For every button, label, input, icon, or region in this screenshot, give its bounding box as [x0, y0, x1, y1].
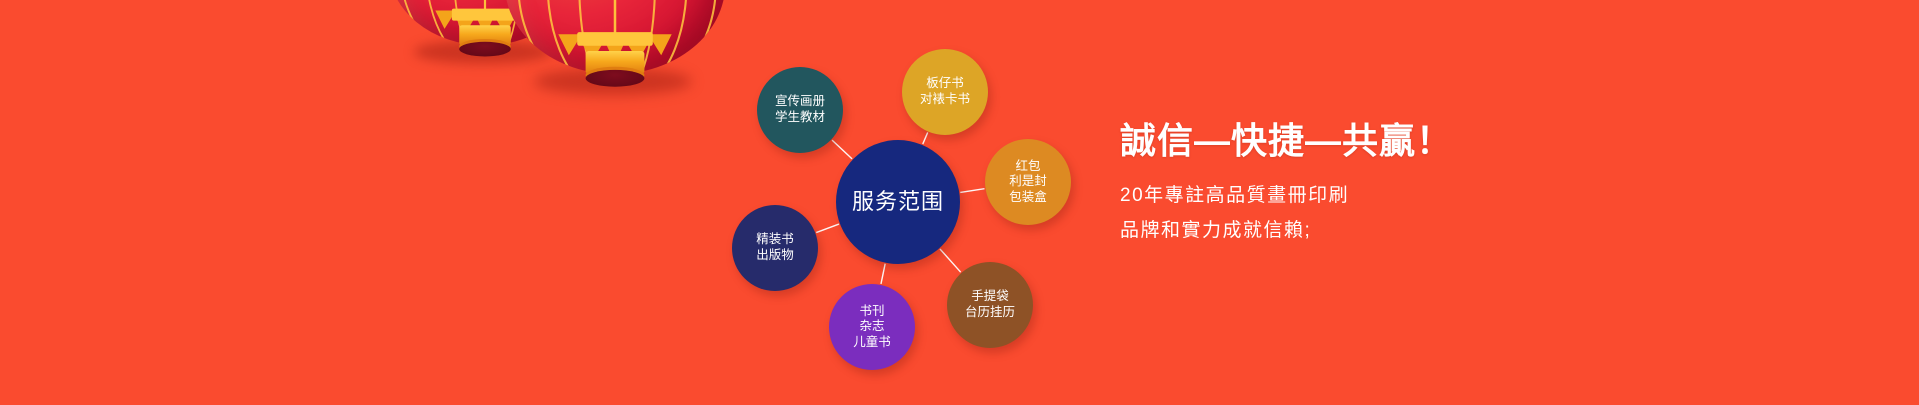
- connector-line: [816, 224, 839, 233]
- bubble-label-line: 学生教材: [775, 110, 825, 126]
- bubble-label-line: 书刊: [859, 304, 884, 320]
- bubble-label-line: 台历挂历: [965, 305, 1015, 321]
- bubble-label-line: 服务范围: [852, 188, 944, 216]
- bubble-center-service-scope[interactable]: 服务范围: [836, 140, 960, 264]
- bubble-handbags-calendars[interactable]: 手提袋台历挂历: [947, 262, 1033, 348]
- bubble-label-line: 儿童书: [853, 335, 891, 351]
- bubble-label-line: 利是封: [1009, 174, 1047, 190]
- slogan-block: 誠信—快捷—共贏！ 20年專註高品質畫冊印刷 品牌和實力成就信賴;: [1120, 112, 1760, 250]
- bubble-promotional-brochures[interactable]: 宣传画册学生教材: [757, 67, 843, 153]
- bubble-label-line: 宣传画册: [775, 94, 825, 110]
- connector-line: [960, 189, 984, 193]
- bubble-magazines[interactable]: 书刊杂志儿童书: [829, 284, 915, 370]
- bubble-board-books[interactable]: 板仔书对裱卡书: [902, 49, 988, 135]
- bubble-label-line: 红包: [1015, 159, 1040, 175]
- promo-banner: 服务范围宣传画册学生教材板仔书对裱卡书红包利是封包装盒精装书出版物书刊杂志儿童书…: [0, 0, 1919, 405]
- connector-line: [923, 132, 928, 144]
- bubble-hardcover-books[interactable]: 精装书出版物: [732, 205, 818, 291]
- bubble-label-line: 出版物: [756, 248, 794, 264]
- bubble-label-line: 杂志: [859, 319, 884, 335]
- bubble-label-line: 包装盒: [1009, 190, 1047, 206]
- slogan-subtitle-line-1: 20年專註高品質畫冊印刷: [1120, 180, 1760, 207]
- bubble-red-envelopes[interactable]: 红包利是封包装盒: [985, 139, 1071, 225]
- connector-line: [832, 140, 852, 159]
- bubble-label-line: 精装书: [756, 232, 794, 248]
- bubble-label-line: 板仔书: [926, 76, 964, 92]
- connector-line: [881, 264, 885, 284]
- slogan-subtitle-line-2: 品牌和實力成就信賴;: [1120, 215, 1760, 242]
- bubble-label-line: 手提袋: [971, 289, 1009, 305]
- connector-line: [940, 249, 961, 272]
- slogan-title: 誠信—快捷—共贏！: [1120, 112, 1760, 164]
- bubble-label-line: 对裱卡书: [920, 92, 970, 108]
